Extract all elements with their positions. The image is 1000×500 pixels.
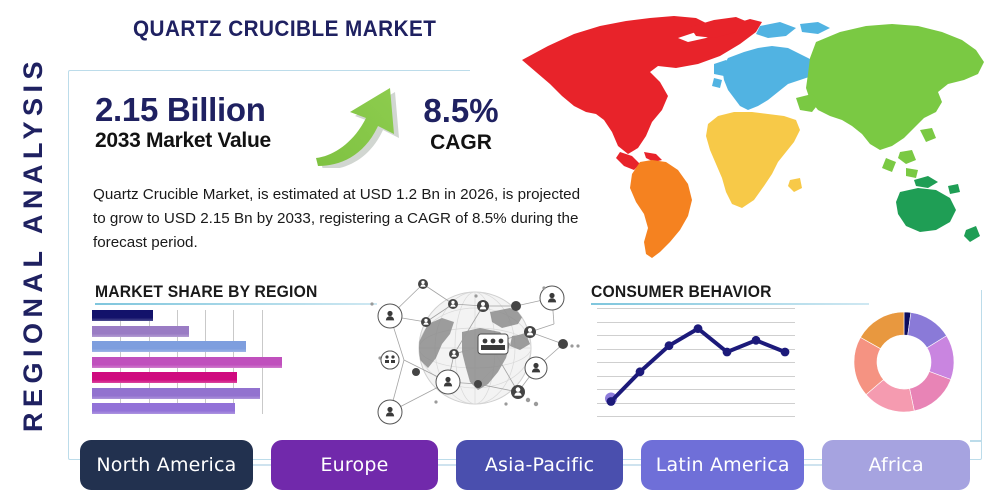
global-network-globe-graphic [358, 272, 593, 427]
vertical-section-label: REGIONAL ANALYSIS [11, 39, 55, 449]
region-pill-europe[interactable]: Europe [271, 440, 438, 490]
bar-chart-bar [92, 341, 246, 352]
section-heading-consumer-behavior: CONSUMER BEHAVIOR [591, 283, 772, 302]
pill-connector [804, 464, 822, 466]
region-pill-asia-pacific[interactable]: Asia-Pacific [456, 440, 623, 490]
growth-arrow-up-icon [310, 82, 410, 168]
infographic-root: REGIONAL ANALYSIS QUARTZ CRUCIBLE MARKET… [0, 0, 1000, 500]
region-pill-label: Africa [868, 454, 923, 476]
line-chart-point [636, 367, 645, 376]
line-chart-point [723, 348, 732, 357]
consumer-behavior-donut-chart [852, 310, 956, 414]
section-heading-market-share: MARKET SHARE BY REGION [95, 283, 317, 302]
bar-chart-bar [92, 310, 153, 321]
group-people-icon [478, 334, 508, 354]
region-pill-north-america[interactable]: North America [80, 440, 253, 490]
donut-segment [910, 371, 951, 410]
group-people-icon-2 [381, 351, 399, 369]
page-title: QUARTZ CRUCIBLE MARKET [133, 16, 436, 42]
pill-connector [253, 464, 271, 466]
region-pill-label: Latin America [656, 454, 790, 476]
pill-frame-connector [970, 440, 982, 442]
bar-chart-bar [92, 403, 235, 414]
pill-connector [623, 464, 641, 466]
bar-chart-bar [92, 357, 282, 368]
region-pill-label: Asia-Pacific [485, 454, 594, 476]
consumer-behavior-line-chart [597, 308, 795, 416]
world-map [500, 2, 1000, 270]
region-pill-label: Europe [320, 454, 388, 476]
bar-chart-bar [92, 388, 260, 399]
line-chart-series [597, 308, 795, 416]
line-chart-point [781, 348, 790, 357]
region-pill-latin-america[interactable]: Latin America [641, 440, 804, 490]
market-share-bar-chart [92, 310, 290, 414]
line-chart-point [752, 336, 761, 345]
region-pill-africa[interactable]: Africa [822, 440, 970, 490]
line-chart-point [694, 324, 703, 333]
bar-chart-bar [92, 372, 237, 383]
bar-chart-bar [92, 326, 189, 337]
line-chart-point [665, 341, 674, 350]
region-pill-label: North America [96, 454, 236, 476]
section-rule-consumer-behavior [591, 303, 869, 305]
section-rule-market-share [95, 303, 377, 305]
line-chart-point [607, 397, 616, 406]
pill-connector [438, 464, 456, 466]
region-pill-row: North AmericaEuropeAsia-PacificLatin Ame… [80, 440, 970, 490]
